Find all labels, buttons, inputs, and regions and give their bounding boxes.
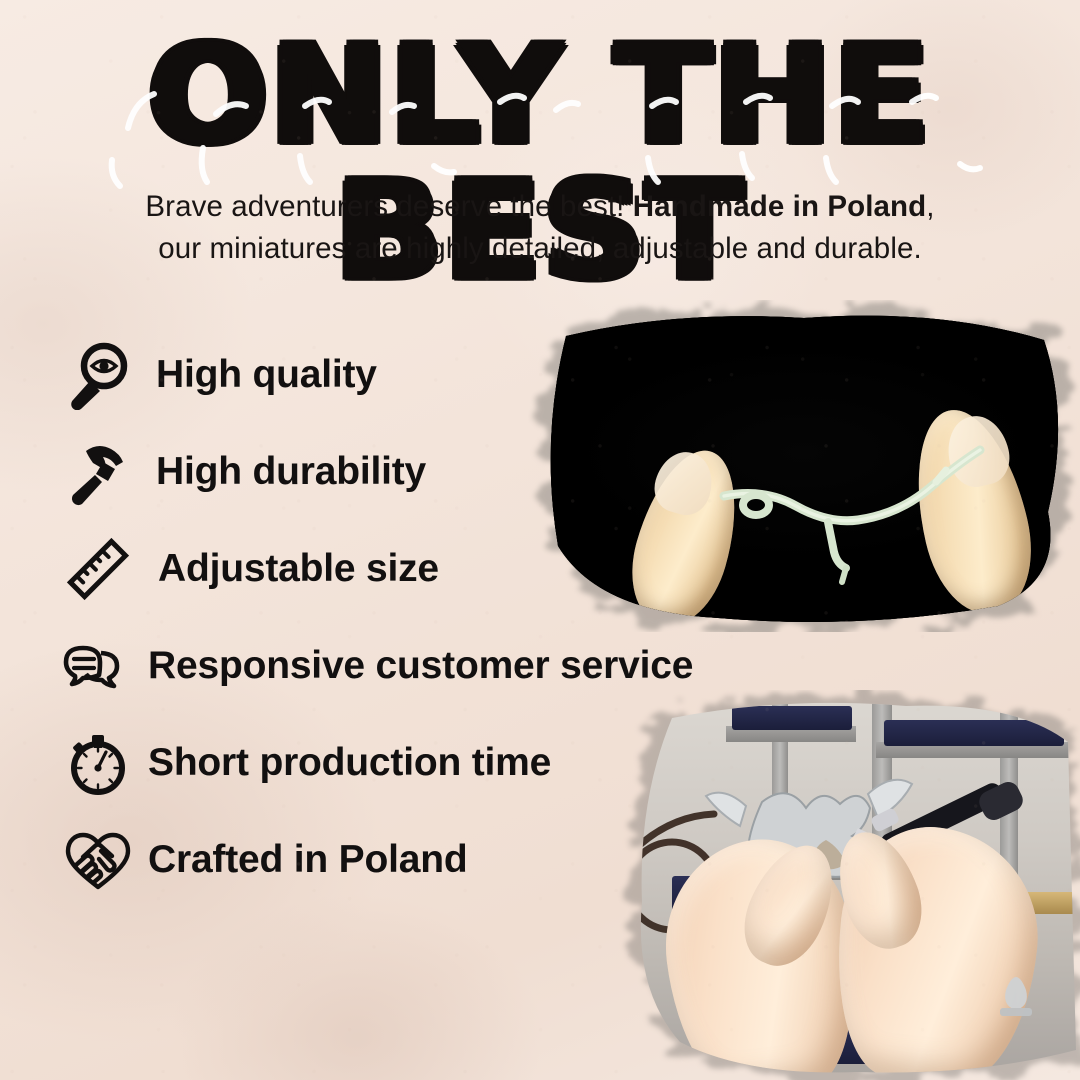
feature-item-adjustable-size: Adjustable size [62,520,782,617]
handshake-heart-icon [62,824,134,896]
ruler-icon [62,533,134,605]
feature-label: Short production time [148,741,551,785]
subtitle-line-1: Brave adventurers deserve the best! Hand… [0,186,1080,228]
feature-label: Crafted in Poland [148,838,467,882]
subtitle: Brave adventurers deserve the best! Hand… [0,186,1080,270]
feature-label: High durability [156,450,426,494]
feature-item-high-quality: High quality [62,326,782,423]
magnifier-eye-icon [62,339,134,411]
feature-label: Adjustable size [158,547,439,591]
feature-item-responsive-customer-service: Responsive customer service [62,617,782,714]
feature-item-short-production-time: Short production time [62,714,782,811]
feature-label: Responsive customer service [148,644,693,688]
feature-list: High quality High durability [62,326,782,908]
subtitle-lead: Brave adventurers deserve the best! [145,190,632,223]
feature-item-high-durability: High durability [62,423,782,520]
subtitle-line-2: our miniatures are highly detailed, adju… [0,228,1080,270]
hammer-icon [62,436,134,508]
feature-item-crafted-in-poland: Crafted in Poland [62,811,782,908]
subtitle-bold-phrase: Handmade in Poland [633,190,927,223]
promo-poster: ONLY THE BEST [0,0,1080,1080]
subtitle-tail: , [926,190,934,223]
feature-label: High quality [156,353,377,397]
speech-bubbles-icon [62,630,134,702]
stopwatch-icon [62,727,134,799]
